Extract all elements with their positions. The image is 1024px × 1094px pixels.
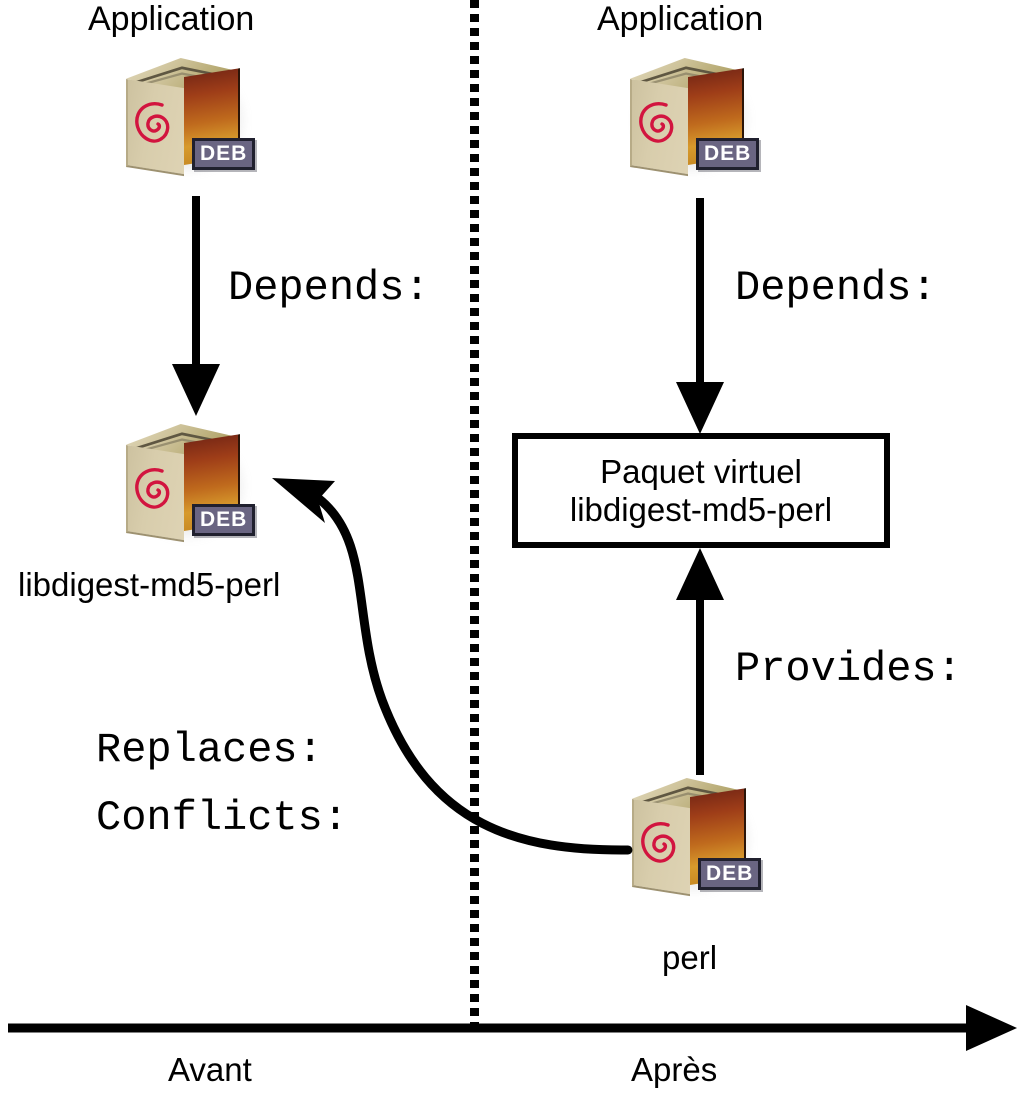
left-depends-arrow <box>172 196 220 416</box>
left-libdigest-package-icon: DEB <box>118 418 270 554</box>
deb-badge: DEB <box>698 858 761 890</box>
debian-swirl-icon <box>132 462 178 518</box>
provides-label: Provides: <box>735 648 962 690</box>
virtual-package-box: Paquet virtuel libdigest-md5-perl <box>512 433 890 548</box>
deb-badge: DEB <box>192 504 255 536</box>
timeline-before-label: Avant <box>168 1053 252 1086</box>
right-application-package-icon: DEB <box>622 52 774 188</box>
left-application-label: Application <box>88 2 254 36</box>
debian-swirl-icon <box>132 96 178 152</box>
virtual-package-line-1: Paquet virtuel <box>600 453 802 491</box>
replaces-label: Replaces: <box>96 729 323 771</box>
perl-package-name-label: perl <box>662 941 717 974</box>
right-application-label: Application <box>597 2 763 36</box>
deb-badge: DEB <box>192 138 255 170</box>
conflicts-label: Conflicts: <box>96 797 348 839</box>
diagram-canvas: Application DEB Depends: DEB libdigest-m <box>0 0 1024 1094</box>
timeline-after-label: Après <box>631 1053 717 1086</box>
right-depends-arrow <box>676 198 724 434</box>
debian-swirl-icon <box>636 96 682 152</box>
provides-arrow <box>676 548 724 775</box>
left-depends-label: Depends: <box>228 267 430 309</box>
deb-badge: DEB <box>696 138 759 170</box>
right-depends-label: Depends: <box>735 267 937 309</box>
timeline-divider <box>470 0 479 1032</box>
left-package-name-label: libdigest-md5-perl <box>18 568 280 601</box>
perl-package-icon: DEB <box>624 772 776 908</box>
virtual-package-line-2: libdigest-md5-perl <box>570 491 832 529</box>
timeline-axis <box>8 1005 1017 1051</box>
debian-swirl-icon <box>638 816 684 872</box>
left-application-package-icon: DEB <box>118 52 270 188</box>
